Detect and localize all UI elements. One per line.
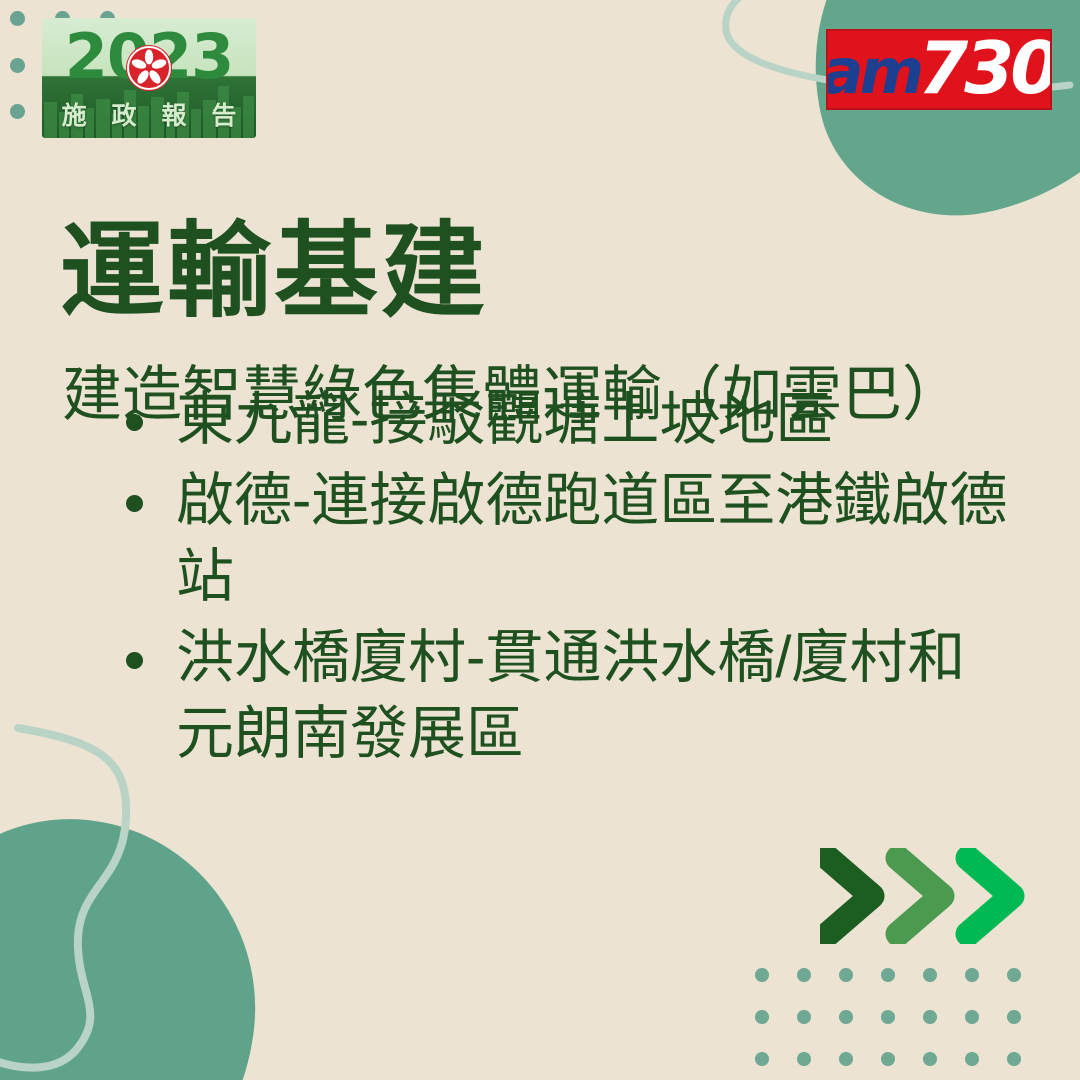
bullet-list: 東九龍-接駁觀塘上坡地區 啟德-連接啟德跑道區至港鐵啟德站 洪水橋廈村-貫通洪水… — [118, 382, 1018, 777]
decorative-dot — [755, 1010, 769, 1024]
decorative-dot — [923, 1010, 937, 1024]
decorative-dot — [839, 1010, 853, 1024]
decorative-dot — [797, 968, 811, 982]
am730-logo-am-text: am — [826, 47, 920, 98]
list-item: 東九龍-接駁觀塘上坡地區 — [118, 382, 1018, 459]
bottom-left-blob-shape — [0, 797, 280, 1080]
decorative-dot — [965, 1010, 979, 1024]
decorative-dot — [839, 968, 853, 982]
chevron-right-icon — [898, 858, 942, 934]
infographic-canvas: 2023 施 政 報 告 am 730 運輸基建 建造智慧綠色集體運輸（如雲巴）… — [0, 0, 1080, 1080]
decorative-dot — [839, 1052, 853, 1066]
decorative-dot — [10, 104, 25, 119]
forward-chevron-arrows — [820, 848, 1050, 944]
am730-logo-730-text: 730 — [918, 38, 1052, 99]
decorative-dot — [881, 968, 895, 982]
hong-kong-bauhinia-emblem — [127, 46, 171, 90]
am730-logo: am 730 — [826, 29, 1052, 110]
decorative-dot — [10, 58, 25, 73]
decorative-dot — [1007, 1010, 1021, 1024]
chevron-right-icon — [828, 858, 872, 934]
policy-logo-subtitle: 施 政 報 告 — [42, 96, 256, 132]
chevron-right-icon — [968, 858, 1012, 934]
page-title: 運輸基建 — [60, 218, 488, 327]
decorative-dot — [1007, 1052, 1021, 1066]
decorative-dot — [10, 11, 25, 26]
decorative-dot — [797, 1052, 811, 1066]
decorative-dot — [965, 1052, 979, 1066]
decorative-dot — [755, 968, 769, 982]
decorative-dot — [881, 1010, 895, 1024]
bauhinia-flower-icon — [129, 48, 169, 88]
decorative-dot — [755, 1052, 769, 1066]
decorative-dot — [1007, 968, 1021, 982]
decorative-dot — [797, 1010, 811, 1024]
list-item: 洪水橋廈村-貫通洪水橋/廈村和元朗南發展區 — [118, 620, 1018, 773]
decorative-dot — [881, 1052, 895, 1066]
decorative-dot — [965, 968, 979, 982]
policy-address-logo: 2023 施 政 報 告 — [42, 18, 256, 138]
decorative-dot — [923, 968, 937, 982]
decorative-dot — [923, 1052, 937, 1066]
list-item: 啟德-連接啟德跑道區至港鐵啟德站 — [118, 463, 1018, 616]
